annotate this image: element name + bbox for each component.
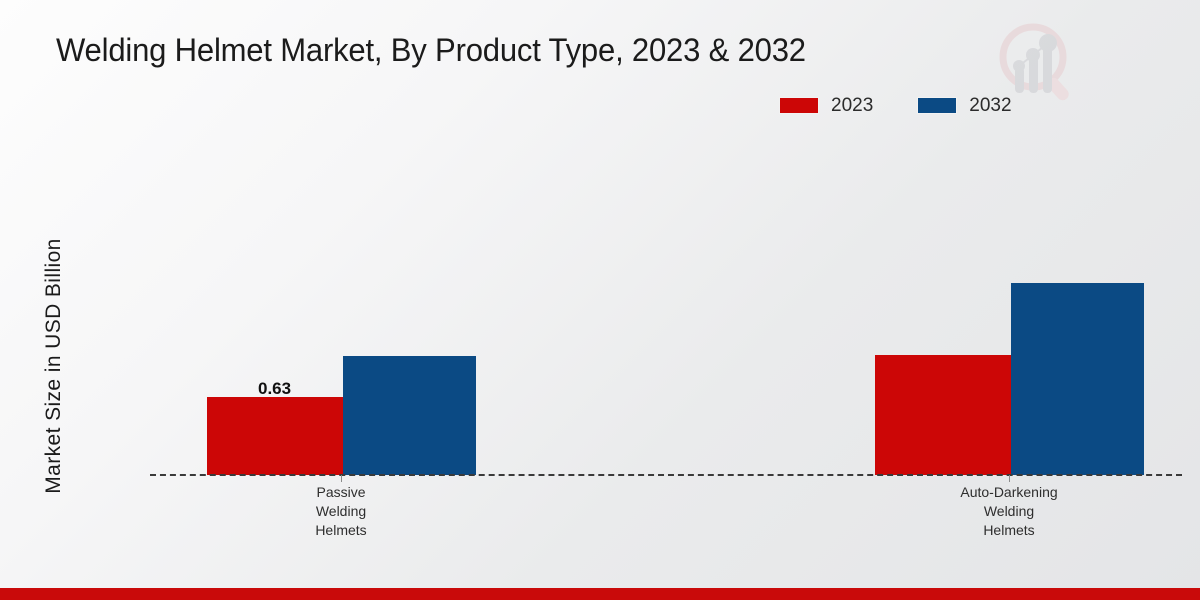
x-axis-label-auto-darkening-line1: Auto-Darkening: [889, 483, 1129, 502]
x-axis-label-auto-darkening: Auto-Darkening Welding Helmets: [889, 483, 1129, 540]
footer-accent-strip: [0, 588, 1200, 600]
x-axis-label-passive-line2: Welding: [221, 502, 461, 521]
x-axis-baseline: [150, 474, 1182, 476]
bar-2023-auto-darkening[interactable]: [875, 355, 1011, 475]
chart-figure: Welding Helmet Market, By Product Type, …: [0, 0, 1200, 600]
plot-area: 0.63 Passive Welding Helmets Auto-Darken…: [0, 0, 1200, 600]
x-axis-tick-auto-darkening: [1009, 475, 1010, 482]
bar-2032-passive[interactable]: [343, 356, 476, 475]
x-axis-label-auto-darkening-line3: Helmets: [889, 521, 1129, 540]
x-axis-label-auto-darkening-line2: Welding: [889, 502, 1129, 521]
x-axis-tick-passive: [341, 475, 342, 482]
bar-2032-auto-darkening[interactable]: [1011, 283, 1144, 475]
x-axis-label-passive-line3: Helmets: [221, 521, 461, 540]
x-axis-label-passive-line1: Passive: [221, 483, 461, 502]
x-axis-label-passive: Passive Welding Helmets: [221, 483, 461, 540]
data-label-2023-passive: 0.63: [258, 379, 291, 399]
bar-2023-passive[interactable]: [207, 397, 343, 475]
